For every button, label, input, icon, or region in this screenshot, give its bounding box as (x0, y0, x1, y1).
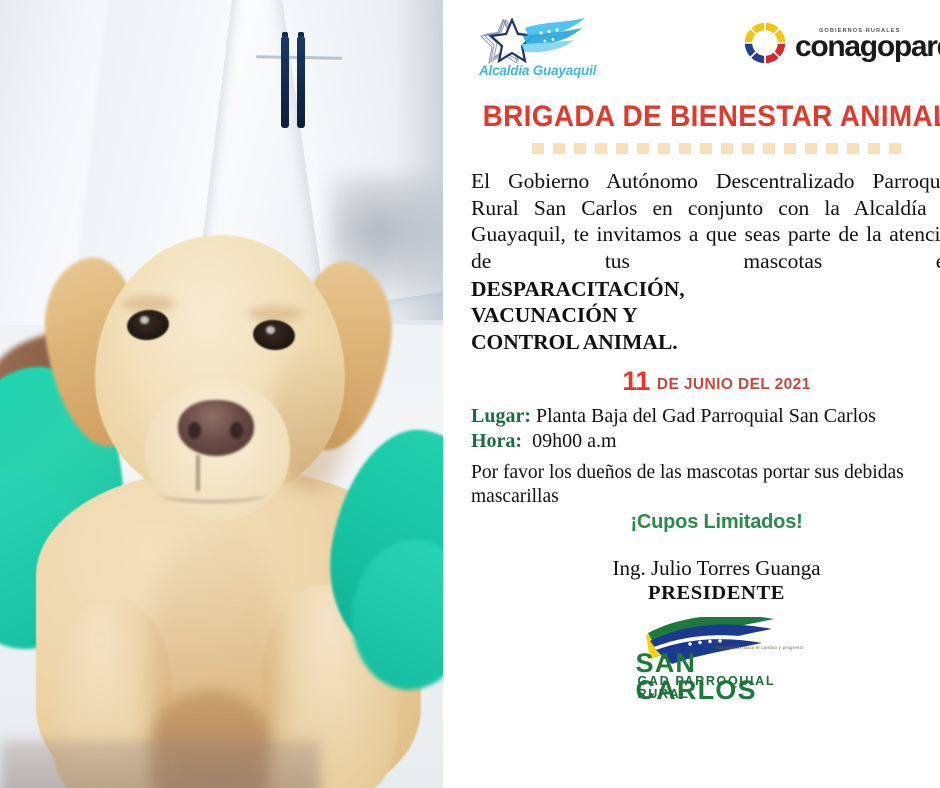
limited-spots-notice: ¡Cupos Limitados! (465, 511, 940, 534)
event-time: Hora: 09h00 a.m (471, 429, 940, 454)
divider-dash (847, 143, 859, 154)
time-label: Hora: (471, 430, 522, 452)
divider-dash (868, 143, 880, 154)
time-value: 09h00 a.m (532, 430, 616, 452)
divider-dash (805, 143, 817, 154)
puppy-eye-highlight (266, 326, 275, 334)
divider-dash (826, 143, 838, 154)
segmented-ring-icon (740, 18, 790, 68)
place-label: Lugar: (471, 405, 531, 427)
service-item: VACUNACIÓN Y (471, 302, 940, 328)
puppy-photo (0, 0, 443, 788)
divider-dash (742, 143, 754, 154)
services-list: DESPARACITACIÓN, VACUNACIÓN Y CONTROL AN… (471, 276, 940, 355)
poster-title: BRIGADA DE BIENESTAR ANIMAL (483, 100, 940, 134)
star-swoosh-icon (479, 14, 591, 66)
content-panel: Alcaldía Guayaquil (443, 0, 940, 788)
divider-dash (679, 143, 691, 154)
divider-dash (553, 143, 565, 154)
signatory-role: PRESIDENTE (465, 582, 940, 605)
pen-icon (281, 36, 289, 128)
service-item: DESPARACITACIÓN, (471, 276, 940, 302)
puppy-lip-line (160, 486, 266, 503)
pen-icon (297, 36, 305, 128)
event-place: Lugar: Planta Baja del Gad Parroquial Sa… (471, 404, 940, 429)
mask-note: Por favor los dueños de las mascotas por… (471, 461, 940, 509)
puppy-nostril (230, 422, 243, 439)
conagopare-wordmark: GOBIERNOS RURALES conagopare (795, 24, 940, 62)
san-carlos-logo: Caminando hacia el cambio y progreso! SA… (624, 617, 810, 695)
photo-floor (0, 740, 320, 788)
divider-dash (889, 143, 901, 154)
divider-dash (784, 143, 796, 154)
puppy-eye-highlight (140, 316, 149, 324)
place-value: Planta Baja del Gad Parroquial San Carlo… (536, 405, 876, 427)
divider-dash (637, 143, 649, 154)
event-details: Lugar: Planta Baja del Gad Parroquial Sa… (471, 404, 940, 455)
divider-dash (616, 143, 628, 154)
signature-block: Ing. Julio Torres Guanga PRESIDENTE (465, 556, 940, 605)
divider-dash (721, 143, 733, 154)
event-date-day: 11 (622, 366, 650, 396)
divider-dash (574, 143, 586, 154)
san-carlos-logo-wrap: Caminando hacia el cambio y progreso! SA… (465, 617, 940, 695)
san-carlos-subtitle: GAD PARROQUIAL RURAL (638, 675, 814, 700)
logo-row: Alcaldía Guayaquil (465, 0, 940, 86)
divider-dash (532, 143, 544, 154)
event-date-month-year: DE JUNIO DEL 2021 (657, 376, 811, 393)
divider-dash (595, 143, 607, 154)
signatory-name: Ing. Julio Torres Guanga (465, 556, 940, 581)
dashed-divider (465, 143, 940, 154)
conagopare-name: conagopare (795, 33, 940, 62)
poster-flyer: Alcaldía Guayaquil (0, 0, 940, 788)
event-date: 11DE JUNIO DEL 2021 (465, 366, 940, 397)
alcaldia-guayaquil-logo: Alcaldía Guayaquil (479, 14, 601, 90)
conagopare-logo: GOBIERNOS RURALES conagopare (740, 14, 940, 72)
divider-dash (763, 143, 775, 154)
puppy-nostril (188, 422, 201, 439)
service-item: CONTROL ANIMAL. (471, 329, 940, 355)
divider-dash (700, 143, 712, 154)
intro-paragraph: El Gobierno Autónomo Descentralizado Par… (471, 168, 940, 275)
divider-dash (658, 143, 670, 154)
